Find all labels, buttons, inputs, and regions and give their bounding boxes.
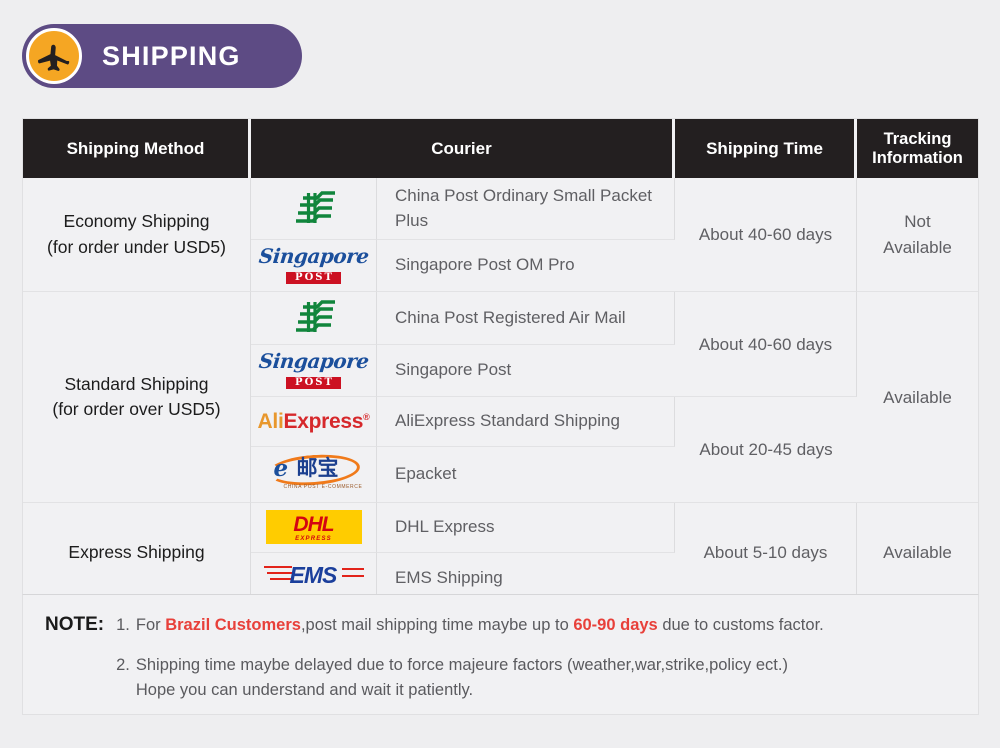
courier-name: China Post Registered Air Mail [377,292,675,345]
epacket-chinese: 邮宝 [297,458,339,479]
note-item-2: 2. Shipping time maybe delayed due to fo… [116,653,956,704]
note-section: NOTE: 1. For Brazil Customers,post mail … [22,594,979,715]
aliexpress-logo: AliExpress® [251,397,377,447]
tracking-value-standard: Available [857,292,978,503]
china-post-logo [251,178,377,240]
aliexpress-logo-mark: AliExpress® [258,410,370,433]
note-item-1-number: 1. [116,613,130,639]
singapore-post-logo-mark: Singapore POST [259,351,369,389]
header-shipping-method: Shipping Method [23,119,251,178]
singapore-post-script: Singapore [258,351,370,371]
shipping-time-value: About 5-10 days [675,503,857,603]
note-item-1-pre: For [136,616,165,634]
courier-name: DHL Express [377,503,675,553]
singapore-post-script: Singapore [258,246,370,266]
singapore-post-badge: POST [286,272,341,284]
method-label-line2: (for order over USD5) [52,399,220,419]
tracking-line2: Available [883,238,952,257]
note-item-1: 1. For Brazil Customers,post mail shippi… [116,613,956,639]
singapore-post-logo-mark: Singapore POST [259,246,369,284]
airplane-icon [26,28,82,84]
singapore-post-logo: Singapore POST [251,345,377,397]
tracking-line1: Not [904,212,930,231]
shipping-table-container: Shipping Method Courier Shipping Time Tr… [22,118,979,604]
note-item-2-number: 2. [116,653,130,704]
shipping-time-value: About 40-60 days [675,292,857,397]
courier-name: China Post Ordinary Small Packet Plus [377,178,675,240]
aliexpress-tm: ® [363,412,369,422]
banner-title: SHIPPING [102,41,241,72]
method-economy-shipping: Economy Shipping (for order under USD5) [23,178,251,292]
tracking-value-express: Available [857,503,978,603]
shipping-time-value: About 40-60 days [675,178,857,292]
table-header-row: Shipping Method Courier Shipping Time Tr… [23,119,978,178]
method-label-line1: Standard Shipping [65,374,209,394]
header-tracking-information: Tracking Information [857,119,978,178]
shipping-time-value: About 20-45 days [675,397,857,503]
table-row: Economy Shipping (for order under USD5) [23,178,978,240]
shipping-info-page: SHIPPING Shipping Method Courier Shippin… [0,0,1000,748]
note-label: NOTE: [45,613,104,636]
method-label-line1: Economy Shipping [64,211,210,231]
courier-name: AliExpress Standard Shipping [377,397,675,447]
china-post-logo [251,292,377,345]
method-standard-shipping: Standard Shipping (for order over USD5) [23,292,251,503]
method-label-line2: (for order under USD5) [47,237,226,257]
header-tracking-line1: Tracking [884,130,952,148]
aliexpress-part1: Ali [258,410,284,433]
china-post-logo-mark [291,298,337,338]
dhl-text: DHL [293,513,333,536]
header-courier: Courier [251,119,675,178]
epacket-e: e [274,457,289,480]
tracking-value-economy: Not Available [857,178,978,292]
aliexpress-part2: Express [283,410,363,433]
dhl-logo-mark: DHL EXPRESS [266,510,362,544]
note-item-1-post: due to customs factor. [658,616,824,634]
ems-stripe [270,578,292,581]
ems-text: EMS [290,564,337,587]
ems-stripe [342,568,364,571]
note-item-2-line2: Hope you can understand and wait it pati… [136,678,788,704]
header-tracking-line2: Information [872,149,963,167]
epacket-logo: e 邮宝 CHINA POST E-COMMERCE [251,447,377,503]
shipping-banner: SHIPPING [22,24,302,88]
dhl-logo: DHL EXPRESS [251,503,377,553]
china-post-logo-mark [291,189,337,229]
header-shipping-time: Shipping Time [675,119,857,178]
table-row: Express Shipping DHL EXPRESS DHL Express… [23,503,978,553]
note-item-1-highlight-1: Brazil Customers [165,616,301,634]
ems-stripe [264,566,292,569]
note-item-1-mid: ,post mail shipping time maybe up to [301,616,573,634]
note-item-2-line1: Shipping time maybe delayed due to force… [136,653,788,679]
note-item-1-highlight-2: 60-90 days [573,616,657,634]
shipping-table: Shipping Method Courier Shipping Time Tr… [23,119,978,603]
singapore-post-logo: Singapore POST [251,240,377,292]
note-item-1-text: For Brazil Customers,post mail shipping … [136,613,824,639]
ems-stripe [342,575,364,578]
courier-name: Singapore Post [377,345,675,397]
singapore-post-badge: POST [286,377,341,389]
courier-name: Singapore Post OM Pro [377,240,675,292]
note-item-2-text: Shipping time maybe delayed due to force… [136,653,788,704]
ems-stripe [267,572,292,575]
courier-name: Epacket [377,447,675,503]
epacket-logo-mark: e 邮宝 CHINA POST E-COMMERCE [268,453,360,491]
method-express-shipping: Express Shipping [23,503,251,603]
table-row: Standard Shipping (for order over USD5) [23,292,978,345]
dhl-subtext: EXPRESS [266,536,362,542]
epacket-subtext: CHINA POST E-COMMERCE [284,484,363,490]
ems-logo-mark: EMS [264,561,364,591]
